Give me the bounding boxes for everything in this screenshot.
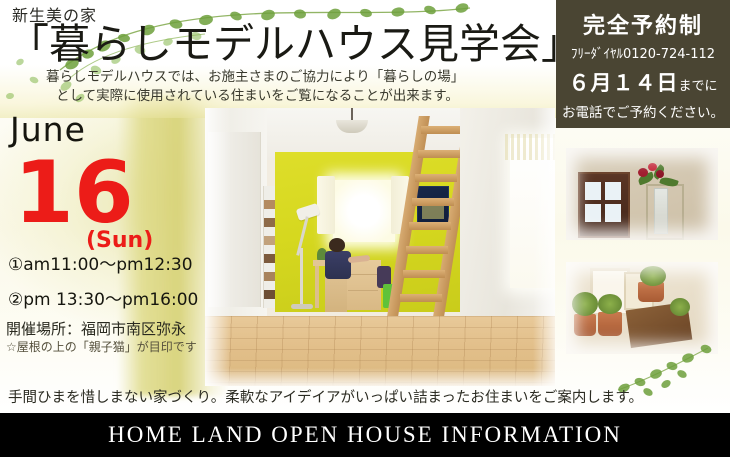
- photo-floor-lamp-base: [291, 304, 313, 309]
- photo-child-body: [325, 251, 351, 279]
- main-interior-photo: [205, 108, 555, 386]
- photo-ladder-rung: [412, 198, 454, 206]
- reservation-phone-number: ﾌﾘｰﾀﾞｲﾔﾙ0120-724-112: [556, 43, 730, 62]
- event-day-number: 16: [14, 150, 134, 236]
- event-landmark-note: ☆屋根の上の「親子猫」が目印です: [6, 338, 197, 355]
- photo-curtain-left: [317, 176, 335, 234]
- photo-edge-fade-left: [205, 108, 231, 386]
- lede-line-1: 暮らしモデルハウスでは、お施主さまのご協力により「暮らしの場」: [46, 68, 556, 87]
- footer-bar: HOME LAND OPEN HOUSE INFORMATION: [0, 413, 730, 457]
- photo-ladder-rung: [421, 126, 463, 134]
- tagline: 手間ひまを惜しまない家づくり。柔軟なアイデイアがいっぱい詰まったお住まいをご案内…: [8, 386, 708, 407]
- side-photo-edge-fade: [566, 148, 718, 240]
- photo-loft-ladder: [401, 116, 465, 316]
- photo-edge-fade-bottom: [205, 368, 555, 386]
- photo-ladder-rung: [403, 270, 445, 278]
- photo-ladder-rung: [400, 294, 442, 302]
- reservation-deadline-date: ６月１４日: [568, 71, 678, 95]
- photo-edge-fade-right: [533, 108, 555, 386]
- lede-line-2: として実際に使用されている住まいをご覧になることが出来ます。: [56, 87, 556, 106]
- lede-paragraph: 暮らしモデルハウスでは、お施主さまのご協力により「暮らしの場」 として実際に使用…: [46, 68, 556, 106]
- photo-window: [333, 180, 395, 242]
- event-location: 開催場所：福岡市南区弥永: [6, 318, 186, 339]
- reservation-deadline: ６月１４日までに: [556, 67, 730, 97]
- reservation-cta: お電話でご予約ください。: [556, 101, 730, 121]
- photo-ladder-rung: [418, 150, 460, 158]
- side-photo-herb-pots: [566, 262, 718, 354]
- photo-child-head: [329, 238, 345, 252]
- photo-desk-leg: [315, 266, 319, 308]
- event-time-slot-1: ①am11:00〜pm12:30: [8, 250, 193, 275]
- photo-ladder-rung: [406, 246, 448, 254]
- reservation-title: 完全予約制: [556, 8, 730, 40]
- reservation-deadline-suffix: までに: [678, 79, 717, 94]
- photo-floor-lamp-pole: [300, 248, 303, 306]
- side-photo-door-flowers: [566, 148, 718, 240]
- event-time-slot-2: ②pm 13:30〜pm16:00: [8, 285, 198, 310]
- reservation-box: 完全予約制 ﾌﾘｰﾀﾞｲﾔﾙ0120-724-112 ６月１４日までに お電話で…: [556, 0, 730, 128]
- footer-text: HOME LAND OPEN HOUSE INFORMATION: [0, 413, 730, 457]
- photo-pendant-cord: [351, 108, 353, 120]
- page-title: 「暮らしモデルハウス見学会」: [8, 22, 556, 66]
- side-photo-edge-fade: [566, 262, 718, 354]
- photo-ladder-rung: [409, 222, 451, 230]
- flyer-root: 新生美の家 「暮らしモデルハウス見学会」 暮らしモデルハウスでは、お施主さまのご…: [0, 0, 730, 457]
- photo-ladder-rung: [415, 174, 457, 182]
